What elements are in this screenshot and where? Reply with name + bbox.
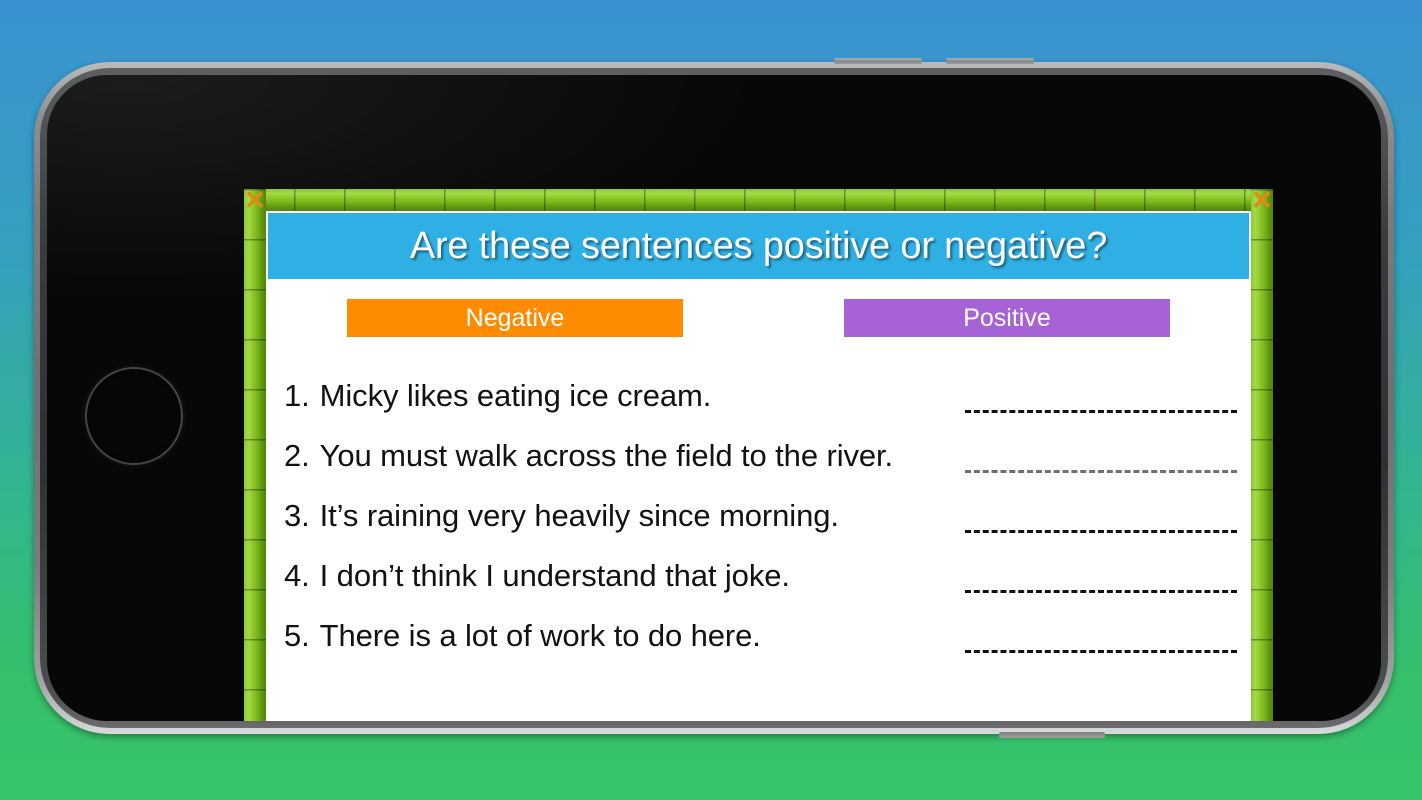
sentence-text: I don’t think I understand that joke.: [320, 558, 790, 594]
sentence-number: 1.: [284, 378, 310, 414]
category-button-negative[interactable]: Negative: [347, 299, 683, 337]
screenshot-stage: ✕ ✕ ✕ ✕ Are these sentences positive or …: [0, 0, 1422, 800]
answer-blank-2[interactable]: [965, 470, 1237, 473]
worksheet-page: Are these sentences positive or negative…: [266, 211, 1251, 721]
device-face: ✕ ✕ ✕ ✕ Are these sentences positive or …: [47, 75, 1381, 721]
list-item: 1. Micky likes eating ice cream.: [284, 366, 1234, 426]
list-item: 5. There is a lot of work to do here.: [284, 606, 1234, 666]
sentence-text: You must walk across the field to the ri…: [320, 438, 893, 474]
sentence-text: There is a lot of work to do here.: [320, 618, 761, 654]
bamboo-border-left: [244, 189, 266, 721]
device-side-button-top-left[interactable]: [834, 58, 922, 64]
sentence-number: 5.: [284, 618, 310, 654]
list-item: 3. It’s raining very heavily since morni…: [284, 486, 1234, 546]
answer-blank-1[interactable]: [965, 410, 1237, 413]
answer-blank-3[interactable]: [965, 530, 1237, 533]
app-screen: ✕ ✕ ✕ ✕ Are these sentences positive or …: [244, 189, 1273, 721]
answer-blank-4[interactable]: [965, 590, 1237, 593]
sentence-list: 1. Micky likes eating ice cream. 2. You …: [284, 366, 1234, 666]
bamboo-border-top: [244, 189, 1273, 211]
device-power-button[interactable]: [999, 732, 1105, 738]
phone-device: ✕ ✕ ✕ ✕ Are these sentences positive or …: [34, 62, 1394, 734]
device-side-button-top-right[interactable]: [946, 58, 1034, 64]
sentence-text: It’s raining very heavily since morning.: [320, 498, 839, 534]
home-button[interactable]: [85, 367, 183, 465]
category-button-positive[interactable]: Positive: [844, 299, 1170, 337]
page-title: Are these sentences positive or negative…: [410, 225, 1107, 268]
answer-blank-5[interactable]: [965, 650, 1237, 653]
corner-x-icon-top-left: ✕: [244, 189, 266, 211]
list-item: 2. You must walk across the field to the…: [284, 426, 1234, 486]
sentence-number: 4.: [284, 558, 310, 594]
corner-x-icon-top-right: ✕: [1251, 189, 1273, 211]
bamboo-border-right: [1251, 189, 1273, 721]
sentence-text: Micky likes eating ice cream.: [320, 378, 712, 414]
sentence-number: 2.: [284, 438, 310, 474]
list-item: 4. I don’t think I understand that joke.: [284, 546, 1234, 606]
worksheet-title-bar: Are these sentences positive or negative…: [268, 213, 1249, 279]
sentence-number: 3.: [284, 498, 310, 534]
